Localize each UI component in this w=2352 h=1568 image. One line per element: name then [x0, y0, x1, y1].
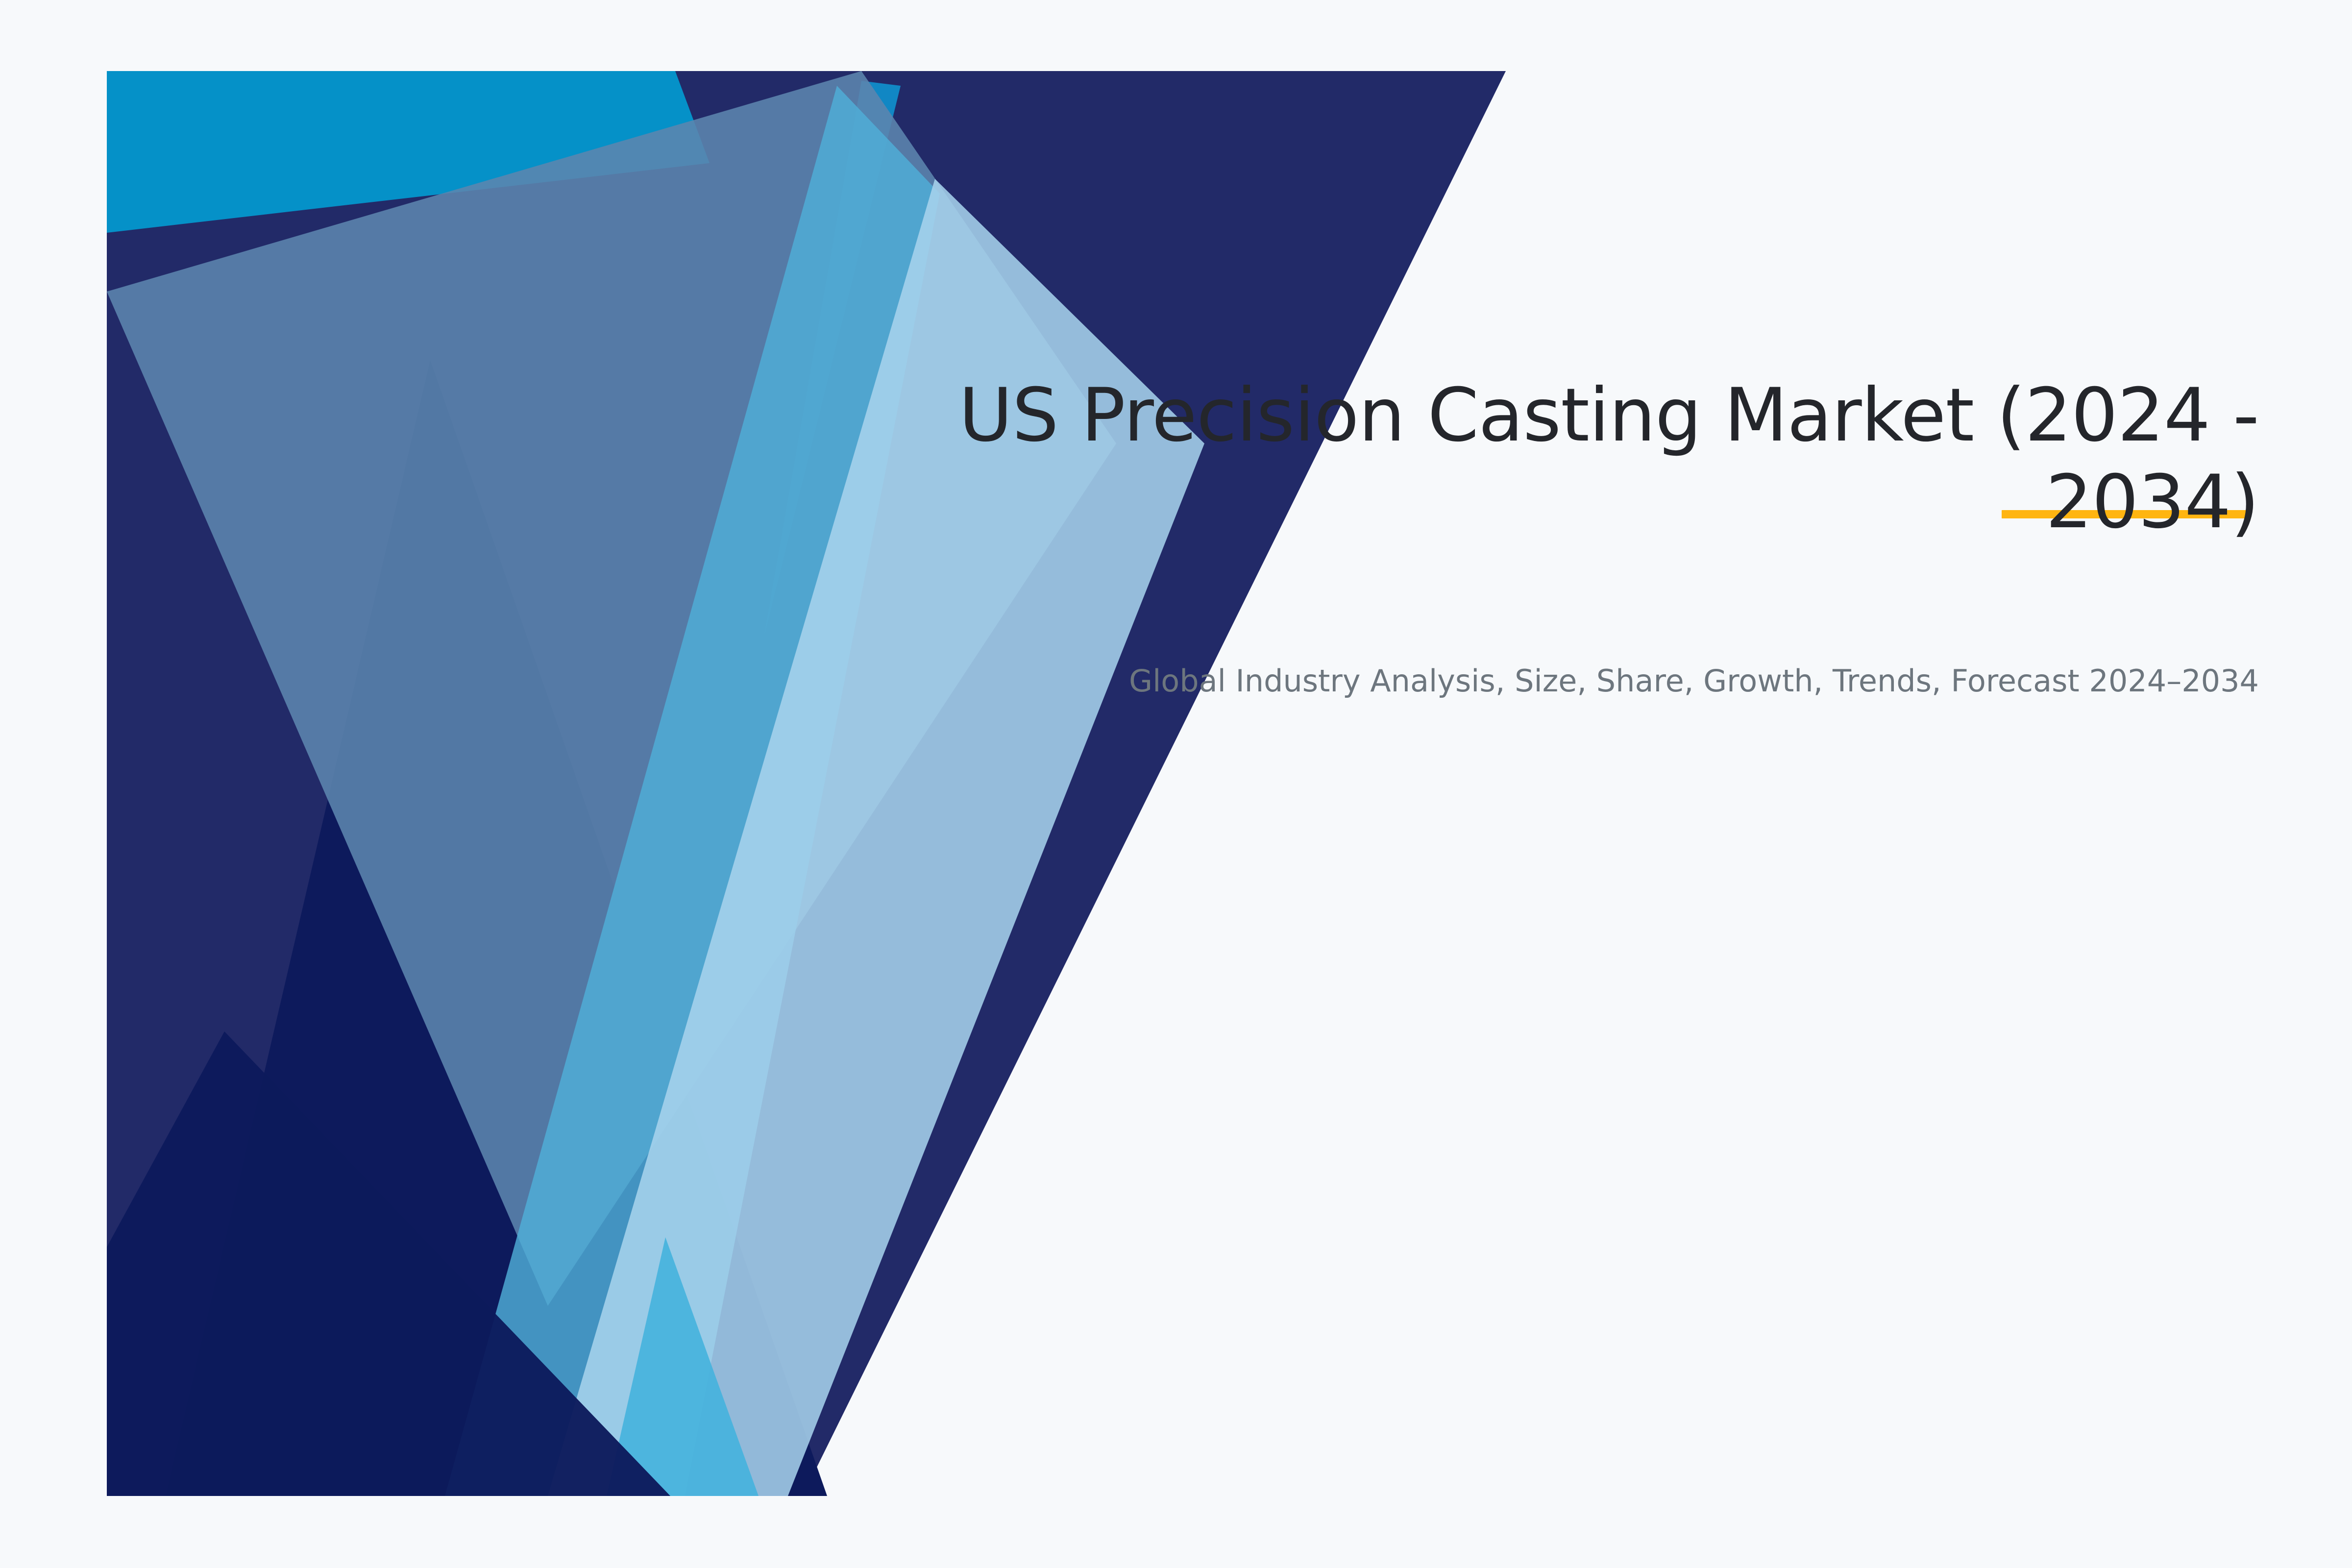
page-title: US Precision Casting Market (2024 - 2034…	[892, 372, 2259, 546]
cover-text-column: US Precision Casting Market (2024 - 2034…	[892, 372, 2259, 701]
cover-artwork	[107, 71, 1506, 1496]
title-wrapper: US Precision Casting Market (2024 - 2034…	[892, 372, 2259, 546]
report-cover-slide: US Precision Casting Market (2024 - 2034…	[0, 0, 2352, 1568]
page-subtitle: Global Industry Analysis, Size, Share, G…	[892, 546, 2259, 701]
geometric-shapes-svg	[107, 71, 1506, 1496]
